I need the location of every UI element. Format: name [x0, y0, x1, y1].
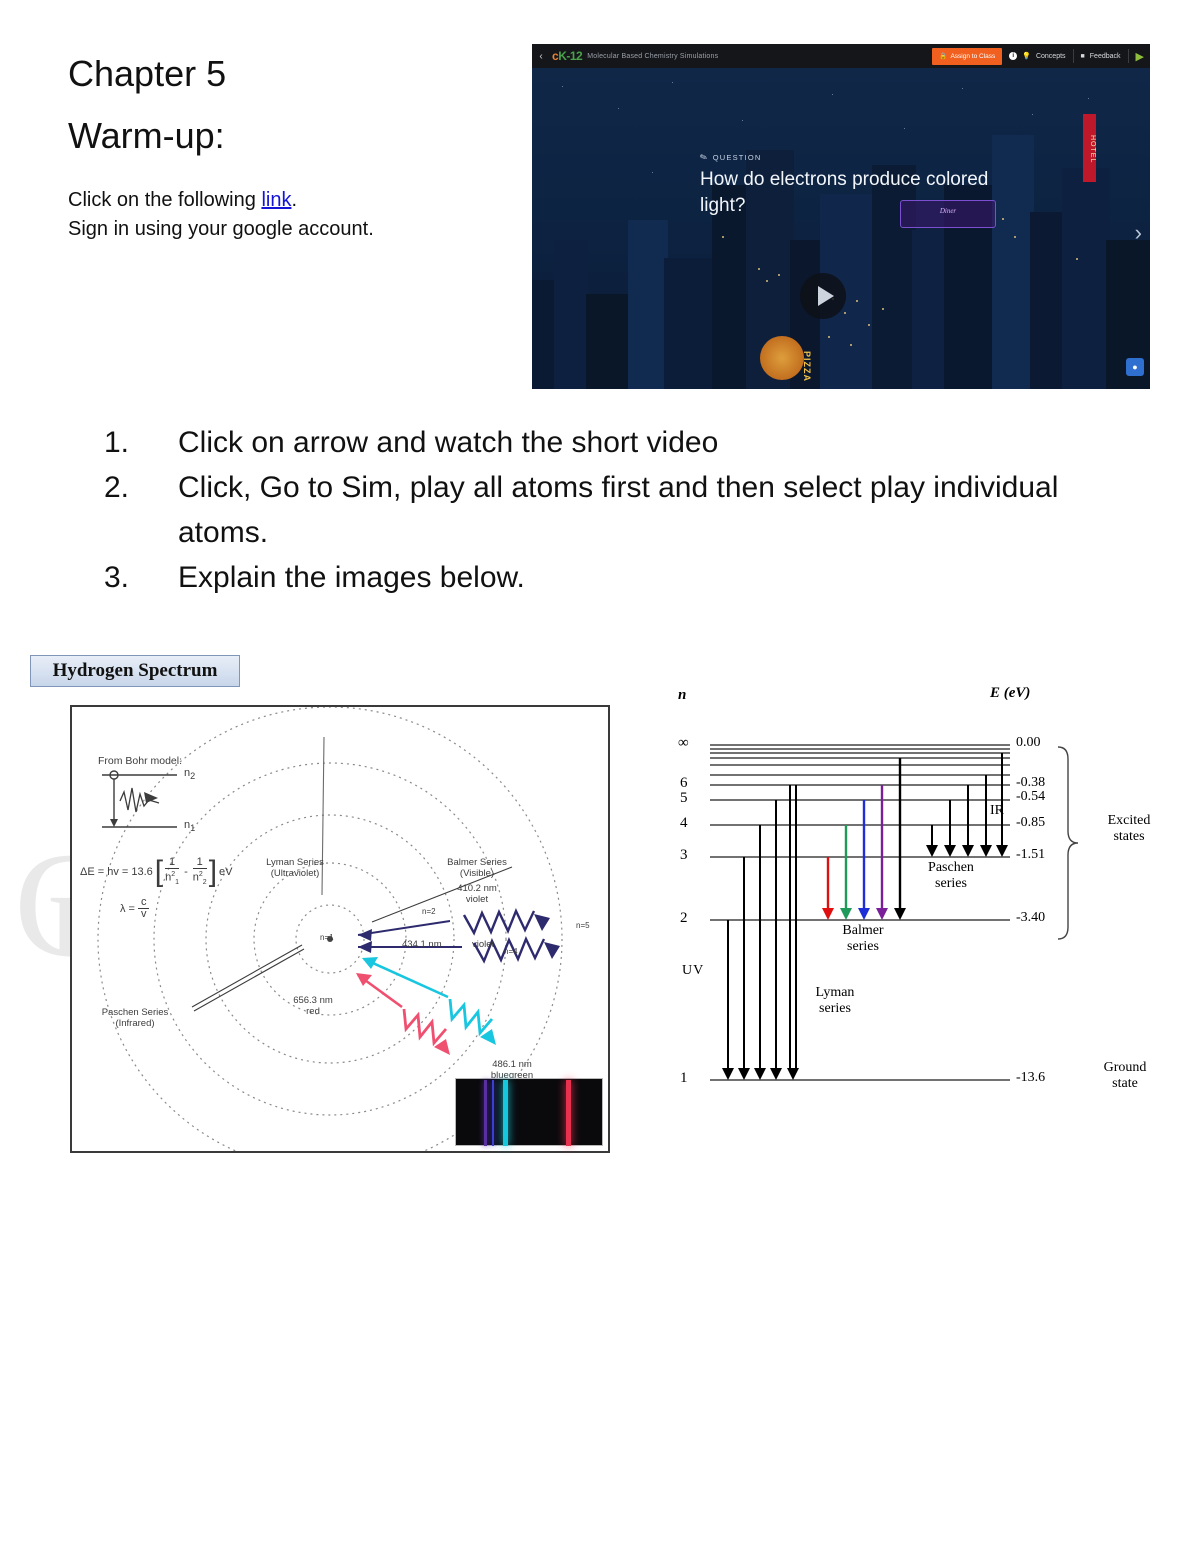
level-n-infinity: ∞ — [678, 735, 689, 752]
bracket-open: [ — [155, 864, 163, 880]
balmer-line1: Balmer — [818, 923, 908, 939]
bohr-energy-formula: ΔE = hv = 13.6 [ 1 n21 - 1 n22 ] eV — [80, 857, 233, 888]
fraction-1: 1 n21 — [165, 857, 179, 888]
excited-line2: states — [1084, 829, 1174, 845]
lyman-region: (Ultraviolet) — [240, 868, 350, 879]
transition-434-color: violet — [472, 939, 494, 950]
pencil-icon: ✎ — [698, 151, 710, 164]
ck12-toolbar: ‹ cK-12 Molecular Based Chemistry Simula… — [532, 44, 1151, 68]
lock-icon: 🔒 — [939, 52, 947, 60]
n2-subscript: 2 — [190, 771, 195, 781]
assign-label: Assign to Class — [950, 53, 995, 60]
question-kicker-label: QUESTION — [713, 153, 762, 162]
energy-level-diagram: n E (eV) ∞ 6 5 4 3 2 1 0.00 -0.38 -0.54 … — [660, 685, 1180, 1105]
level-n-2: 2 — [680, 910, 688, 927]
e-axis-label: E (eV) — [990, 685, 1030, 702]
concepts-button[interactable]: i 💡 Concepts — [1002, 52, 1072, 60]
step-number: 1. — [104, 420, 178, 465]
energy-n5: -0.54 — [1016, 789, 1045, 805]
frac1-denominator: n21 — [165, 869, 179, 888]
pizza-neon-sign — [760, 336, 804, 380]
instruction-prefix: Click on the following — [68, 189, 261, 211]
instruction-suffix: . — [291, 189, 297, 211]
balmer-name: Balmer Series — [422, 857, 532, 868]
hydrogen-spectrum-title: Hydrogen Spectrum — [30, 655, 240, 687]
paschen-series-annotation: Paschen series — [906, 860, 996, 892]
toolbar-right: 🔒 Assign to Class i 💡 Concepts ■ Feedbac… — [932, 44, 1151, 68]
sim-title: Molecular Based Chemistry Simulations — [582, 53, 718, 60]
bracket-close: ] — [209, 864, 217, 880]
list-item: 1. Click on arrow and watch the short vi… — [104, 420, 1094, 465]
paschen-name: Paschen Series — [80, 1007, 190, 1018]
transition-656-color: red — [268, 1006, 358, 1017]
ground-line1: Ground — [1080, 1060, 1170, 1076]
feedback-icon: ■ — [1081, 53, 1085, 60]
transition-656-label: 656.3 nm red — [268, 995, 358, 1017]
header-text-block: Chapter 5 Warm-up: Click on the followin… — [68, 46, 508, 244]
formula-minus: - — [181, 866, 191, 878]
transition-410-color: violet — [422, 894, 532, 905]
orbit-label-n4: n=4 — [504, 947, 518, 956]
frac1-numerator: 1 — [165, 857, 179, 869]
balmer-region: (Visible) — [422, 868, 532, 879]
balmer-series-annotation: Balmer series — [818, 923, 908, 955]
level-n-4: 4 — [680, 815, 688, 832]
lyman-line2: series — [790, 1001, 880, 1017]
transition-410-wavelength: 410.2 nm — [422, 883, 532, 894]
pizza-neon-label: PIZZA — [802, 351, 812, 382]
bohr-caption: From Bohr model: — [98, 755, 182, 767]
list-item: 3. Explain the images below. — [104, 555, 1094, 600]
spectrum-line-violet — [484, 1080, 487, 1146]
energy-0: 0.00 — [1016, 735, 1041, 751]
lightbulb-icon: 💡 — [1022, 52, 1031, 60]
level-n1-label: n1 — [184, 819, 195, 833]
wavelength-formula: λ = c v — [120, 897, 149, 920]
ck12-logo: cK-12 — [550, 49, 582, 63]
step-number: 2. — [104, 465, 178, 555]
page-header: Chapter 5 Warm-up: Click on the followin… — [0, 0, 1200, 400]
lyman-series-label: Lyman Series (Ultraviolet) — [240, 857, 350, 879]
page-title: Chapter 5 — [68, 46, 508, 102]
play-icon — [818, 286, 834, 306]
energy-n2: -3.40 — [1016, 910, 1045, 926]
fraction-2: 1 n22 — [193, 857, 207, 888]
n-axis-label: n — [678, 687, 686, 704]
energy-n1: -13.6 — [1016, 1070, 1045, 1086]
uv-label: UV — [682, 963, 704, 979]
lambda-fraction: c v — [138, 897, 150, 920]
ck12-video-card[interactable]: ‹ cK-12 Molecular Based Chemistry Simula… — [531, 43, 1151, 390]
orbit-label-n2: n=2 — [422, 907, 436, 916]
paschen-series-label: Paschen Series (Infrared) — [80, 1007, 190, 1029]
frac2-numerator: 1 — [193, 857, 207, 869]
feedback-button[interactable]: ■ Feedback — [1074, 53, 1128, 60]
paschen-region: (Infrared) — [80, 1018, 190, 1029]
video-thumbnail[interactable]: ✎ QUESTION How do electrons produce colo… — [532, 68, 1151, 390]
level-n-5: 5 — [680, 790, 688, 807]
flag-icon[interactable]: ▶ — [1129, 50, 1151, 63]
excited-line1: Excited — [1084, 813, 1174, 829]
orbit-label-n5: n=5 — [576, 921, 590, 930]
spectrum-line-cyan — [503, 1080, 508, 1146]
lyman-name: Lyman Series — [240, 857, 350, 868]
spectrum-line-blue — [492, 1080, 494, 1146]
formula-left: ΔE = hv = 13.6 — [80, 866, 153, 878]
transition-656-wavelength: 656.3 nm — [268, 995, 358, 1006]
info-icon: i — [1009, 52, 1017, 60]
level-n-3: 3 — [680, 847, 688, 864]
balmer-series-label: Balmer Series (Visible) 410.2 nm violet — [422, 857, 532, 905]
warmup-title: Warm-up: — [68, 108, 508, 164]
paschen-line1: Paschen — [906, 860, 996, 876]
n1-subscript: 1 — [190, 823, 195, 833]
ir-label: IR — [990, 803, 1004, 819]
instruction-line-2: Sign in using your google account. — [68, 215, 508, 244]
emission-spectrum-strip — [455, 1078, 603, 1146]
level-n-1: 1 — [680, 1070, 688, 1087]
play-button[interactable] — [800, 273, 846, 319]
chat-icon[interactable]: ● — [1126, 358, 1144, 376]
diner-neon-sign: Diner — [900, 200, 996, 228]
level-n2-label: n2 — [184, 767, 195, 781]
feedback-label: Feedback — [1090, 53, 1121, 60]
list-item: 2. Click, Go to Sim, play all atoms firs… — [104, 465, 1094, 555]
logo-k12: K-12 — [558, 49, 582, 63]
balmer-line2: series — [818, 939, 908, 955]
diner-neon-label: Diner — [901, 207, 995, 215]
ground-line2: state — [1080, 1076, 1170, 1092]
back-icon[interactable]: ‹ — [532, 51, 550, 62]
question-kicker: ✎ QUESTION — [700, 152, 990, 163]
chevron-right-icon[interactable]: › — [1135, 220, 1142, 246]
frac2-denominator: n22 — [193, 869, 207, 888]
energy-n3: -1.51 — [1016, 847, 1045, 863]
hotel-neon-sign: HOTEL — [1083, 114, 1096, 182]
energy-level-svg — [660, 685, 1180, 1105]
lyman-series-annotation: Lyman series — [790, 985, 880, 1017]
concepts-label: Concepts — [1036, 53, 1066, 60]
transition-434-wavelength: 434.1 nm — [402, 939, 442, 950]
lambda-label: λ = — [120, 903, 135, 915]
instruction-block: Click on the following link. Sign in usi… — [68, 186, 508, 244]
transition-486-wavelength: 486.1 nm — [462, 1059, 562, 1070]
energy-n4: -0.85 — [1016, 815, 1045, 831]
spectrum-line-red — [566, 1080, 571, 1146]
step-number: 3. — [104, 555, 178, 600]
step-text: Explain the images below. — [178, 555, 1094, 600]
sim-link[interactable]: link — [261, 189, 291, 211]
instruction-steps: 1. Click on arrow and watch the short vi… — [104, 420, 1094, 600]
step-text: Click on arrow and watch the short video — [178, 420, 1094, 465]
lyman-line1: Lyman — [790, 985, 880, 1001]
assign-to-class-button[interactable]: 🔒 Assign to Class — [932, 48, 1002, 65]
formula-unit: eV — [219, 866, 232, 878]
excited-states-annotation: Excited states — [1084, 813, 1174, 845]
paschen-line2: series — [906, 876, 996, 892]
ground-state-annotation: Ground state — [1080, 1060, 1170, 1092]
step-text: Click, Go to Sim, play all atoms first a… — [178, 465, 1094, 555]
orbit-label-n1: n=1 — [320, 933, 334, 942]
